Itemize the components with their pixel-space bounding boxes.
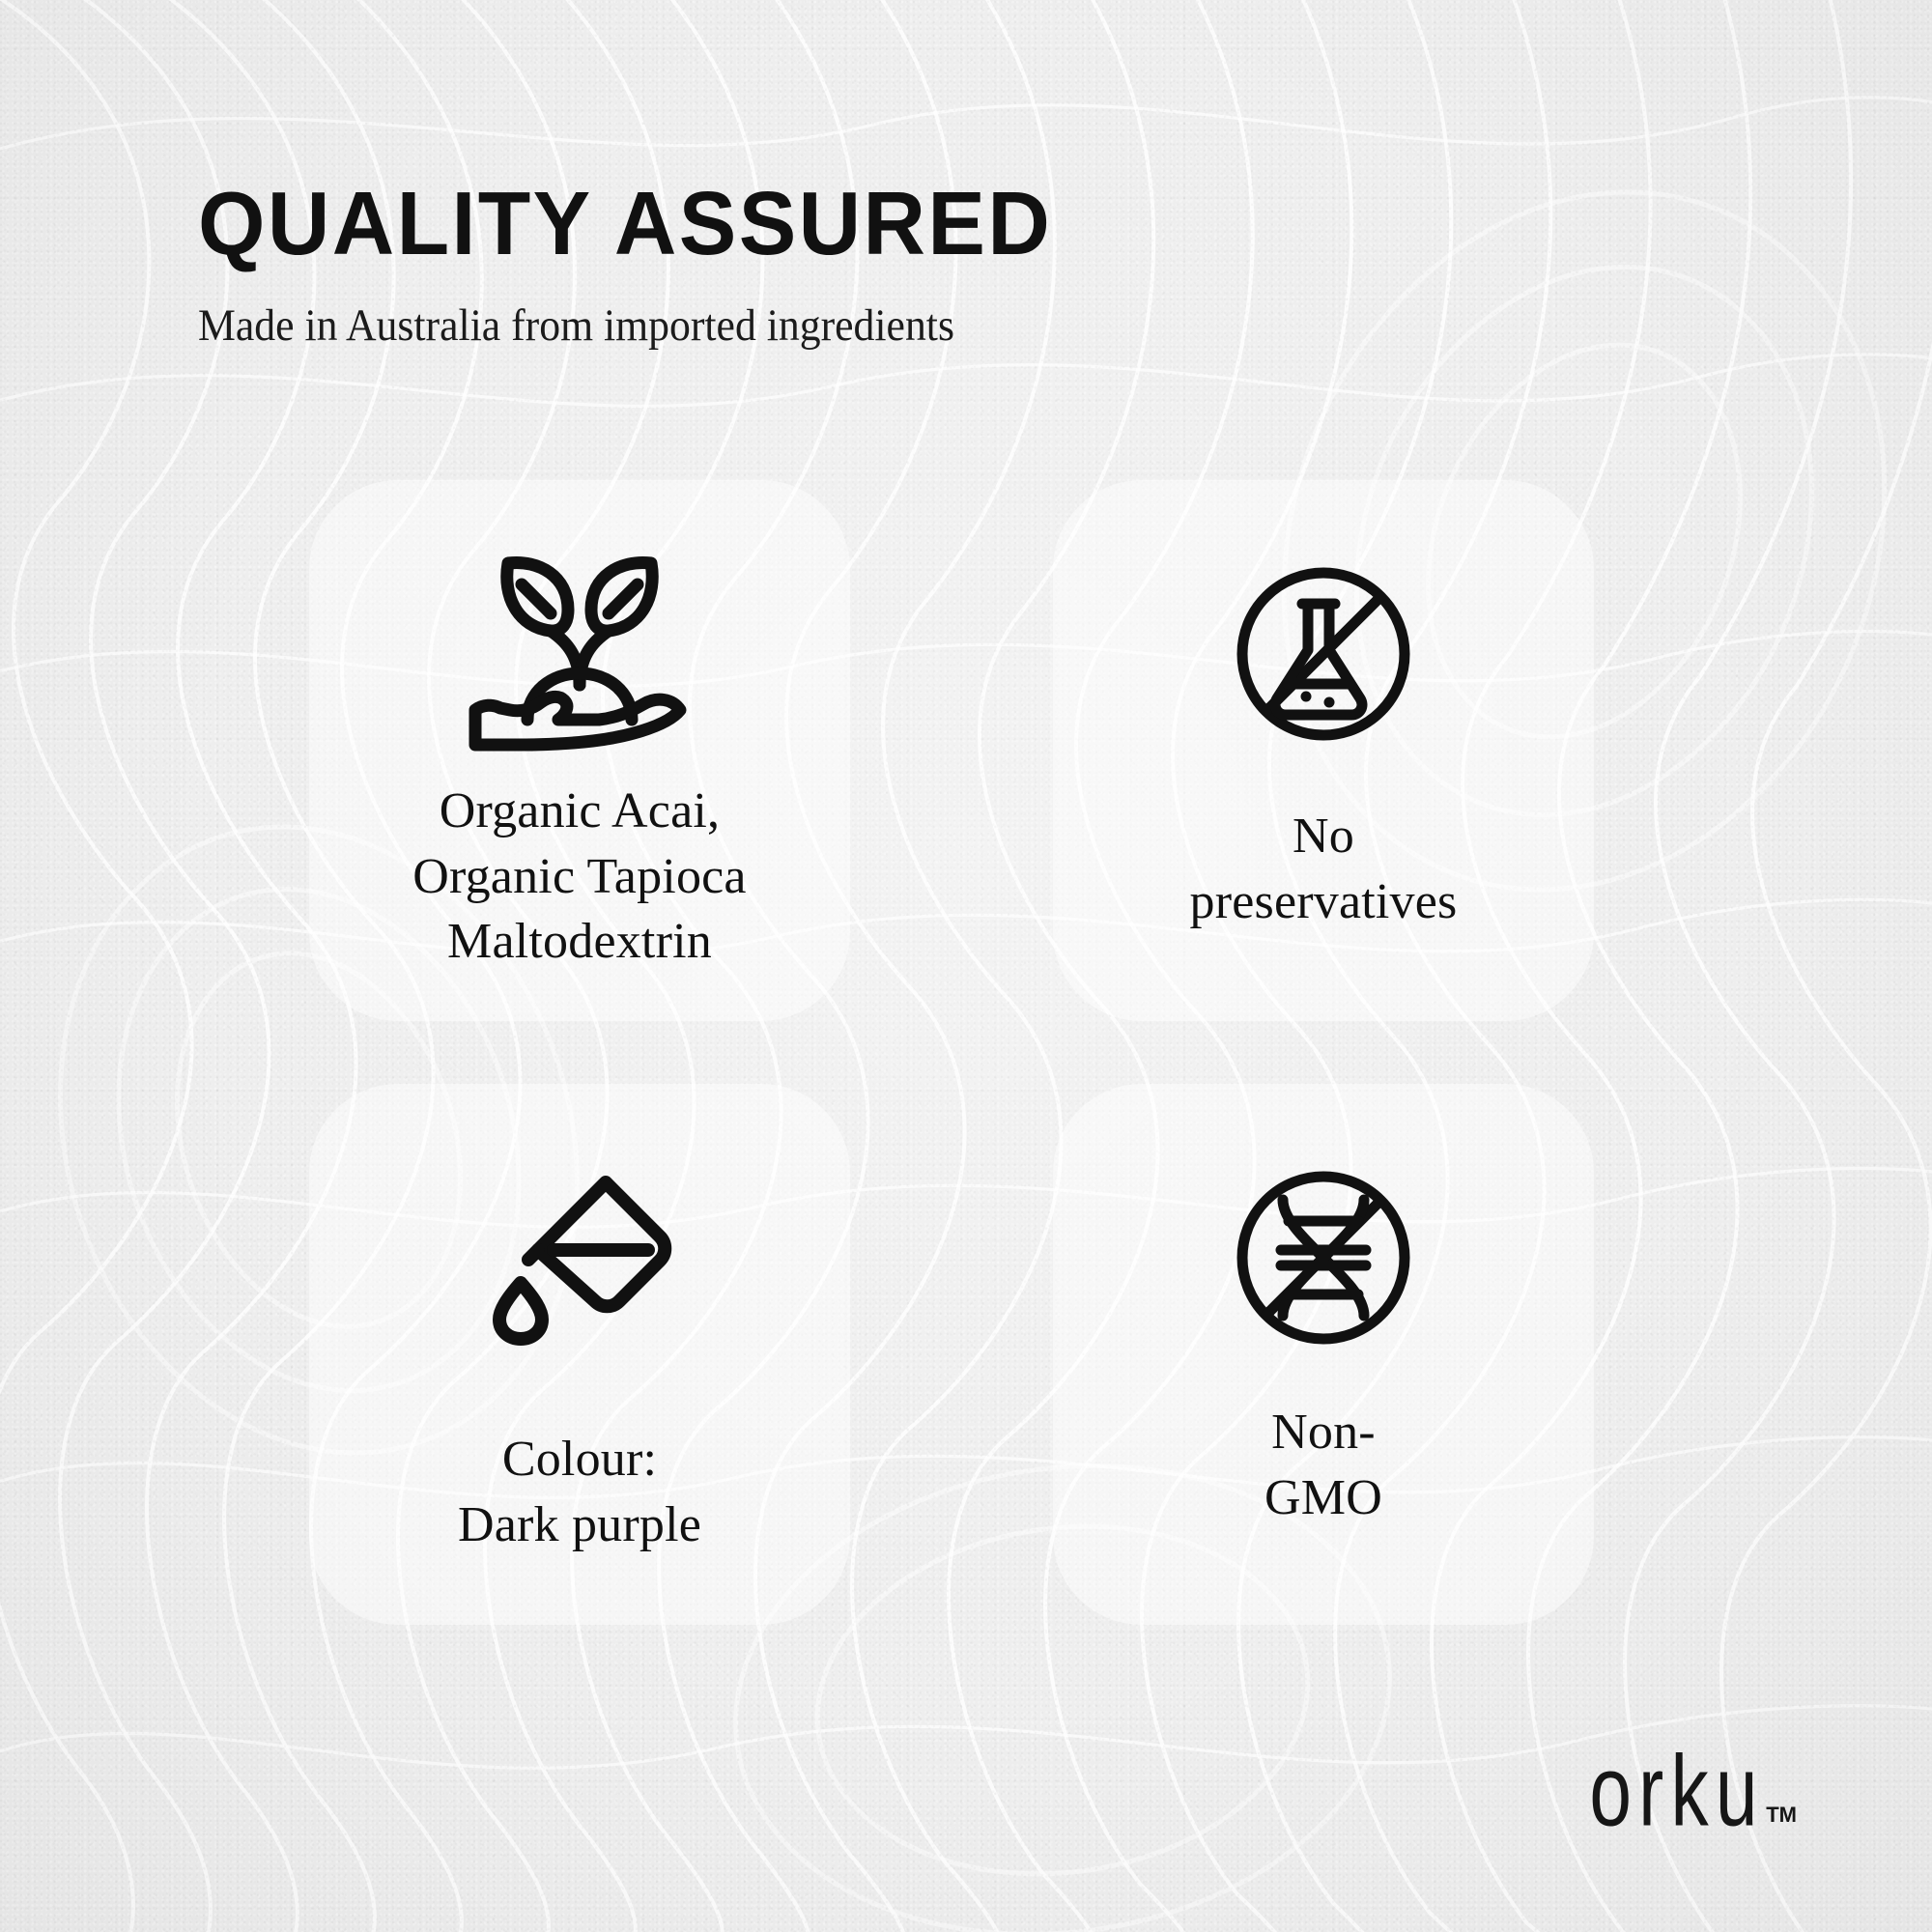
non-gmo-dna-icon [1227, 1153, 1420, 1361]
sprout-in-hand-icon [454, 550, 705, 757]
quality-assured-panel: QUALITY ASSURED Made in Australia from i… [0, 0, 1932, 1932]
orku-brand-logo: orku TM [1546, 1750, 1797, 1835]
page-title: QUALITY ASSURED [198, 179, 1052, 269]
feature-card-grid: Organic Acai, Organic Tapioca Maltodextr… [309, 480, 1594, 1625]
feature-card-organic-ingredients: Organic Acai, Organic Tapioca Maltodextr… [309, 480, 850, 1021]
no-preservatives-flask-icon [1227, 550, 1420, 757]
feature-card-label: Colour: Dark purple [437, 1427, 723, 1557]
feature-card-non-gmo: Non- GMO [1053, 1084, 1594, 1625]
feature-card-label: No preservatives [1169, 804, 1479, 934]
page-subtitle: Made in Australia from imported ingredie… [198, 299, 1026, 352]
feature-card-no-preservatives: No preservatives [1053, 480, 1594, 1021]
feature-card-label: Non- GMO [1243, 1400, 1404, 1530]
feature-card-label: Organic Acai, Organic Tapioca Maltodextr… [391, 779, 767, 975]
paint-bucket-icon [478, 1153, 681, 1361]
header: QUALITY ASSURED Made in Australia from i… [198, 179, 1088, 352]
feature-card-colour: Colour: Dark purple [309, 1084, 850, 1625]
trademark-symbol: TM [1766, 1803, 1797, 1828]
logo-wordmark: orku [1589, 1746, 1764, 1835]
